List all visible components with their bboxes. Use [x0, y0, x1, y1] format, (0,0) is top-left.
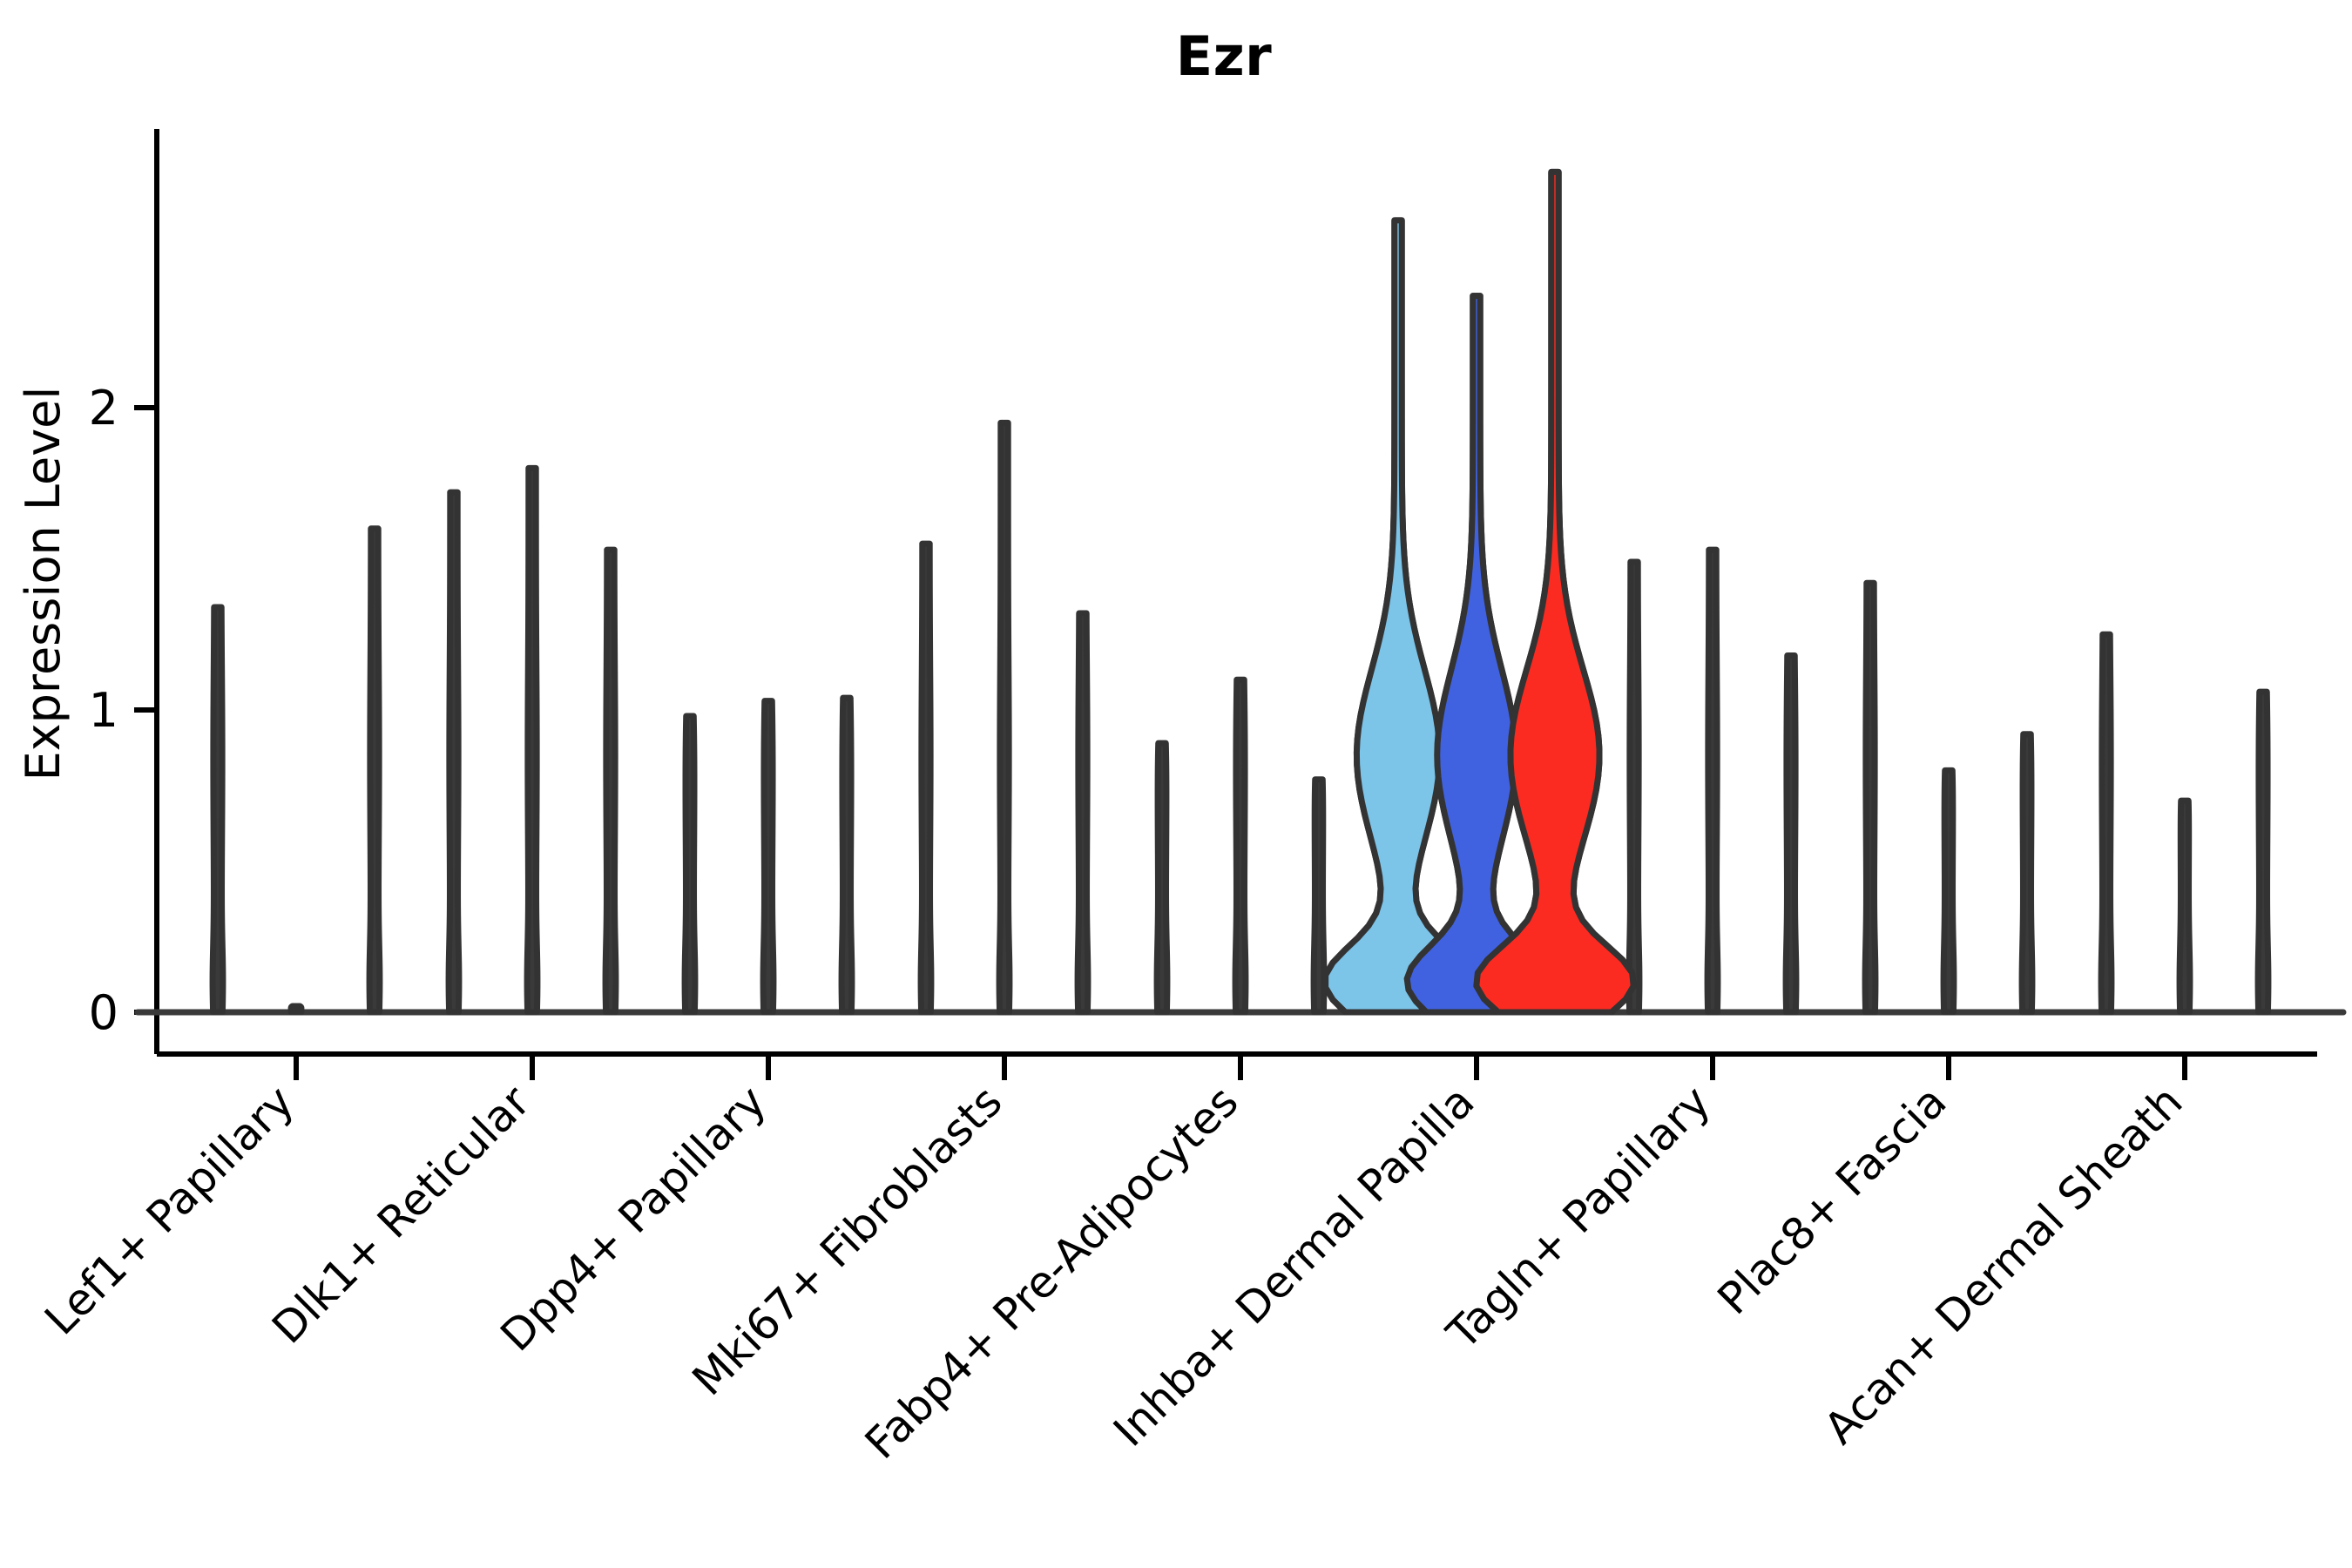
y-tick-label: 2 — [89, 381, 118, 436]
violin-shape-filled — [1407, 296, 1546, 1012]
y-tick-group: 012 — [89, 381, 157, 1040]
violin-shape — [841, 698, 852, 1012]
x-tick-label: Dlk1+ Reticular — [262, 1076, 539, 1353]
y-tick-label: 0 — [89, 985, 118, 1040]
violin-shape — [999, 422, 1010, 1012]
violin-shape — [921, 544, 931, 1012]
violin-shape — [369, 529, 380, 1012]
violin-shape — [449, 492, 459, 1012]
violin-shape — [1314, 780, 1324, 1012]
violin-shape — [213, 607, 223, 1012]
violin-shape — [1865, 583, 1876, 1012]
x-tick-group — [296, 1054, 2185, 1080]
violin-shape-filled — [1477, 172, 1633, 1012]
violin-shape — [1629, 562, 1639, 1012]
violin-plot-figure: Ezr Expression Level 012 Lef1+ Papillary… — [0, 0, 2352, 1568]
violin-shape — [1707, 550, 1718, 1012]
violin-shape — [605, 550, 616, 1012]
violin-shape-filled — [1326, 220, 1471, 1012]
violin-shape — [2022, 734, 2032, 1012]
violin-shape — [763, 701, 774, 1012]
x-tick-label: Plac8+ Fascia — [1708, 1076, 1957, 1324]
violin-chart-canvas: 012 Lef1+ PapillaryDlk1+ ReticularDpp4+ … — [0, 0, 2352, 1568]
violin-shape — [685, 716, 695, 1012]
violin-shape — [2258, 692, 2268, 1012]
violin-shape — [2180, 801, 2190, 1012]
violin-shape — [527, 468, 537, 1012]
x-tick-label-group: Lef1+ PapillaryDlk1+ ReticularDpp4+ Papi… — [35, 1076, 2192, 1469]
violin-shape — [2101, 634, 2112, 1012]
violin-shape — [1943, 770, 1954, 1012]
violin-shape — [1078, 613, 1088, 1012]
violin-shape — [1157, 743, 1167, 1012]
violin-shape — [291, 1006, 301, 1012]
x-tick-label: Fabp4+ Pre-Adipocytes — [855, 1076, 1248, 1469]
x-tick-label: Tagln+ Papillary — [1436, 1076, 1720, 1359]
y-tick-label: 1 — [89, 683, 118, 738]
violin-group — [138, 172, 2343, 1012]
violin-shape — [1235, 679, 1246, 1012]
x-tick-label: Lef1+ Papillary — [35, 1076, 303, 1344]
violin-shape — [1786, 656, 1796, 1012]
